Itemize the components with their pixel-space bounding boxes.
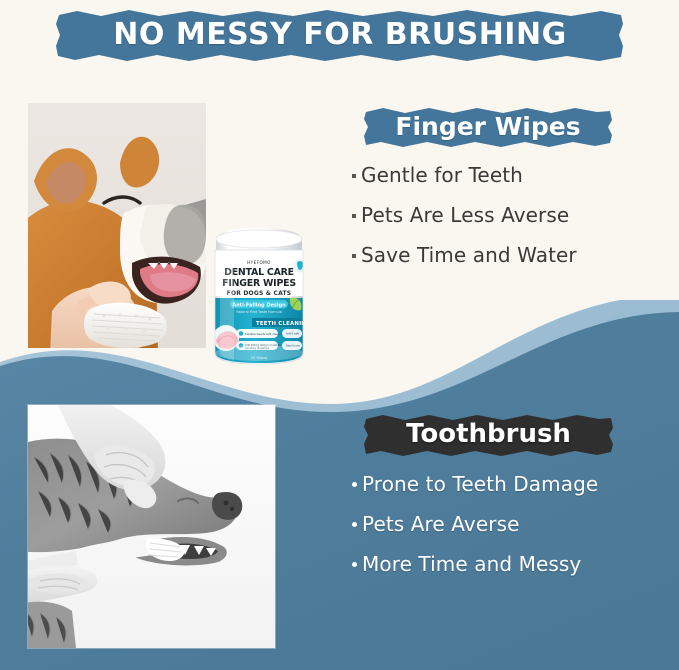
top-banner-title: NO MESSY FOR BRUSHING [55, 8, 625, 63]
finger-wipes-benefits-list: Gentle for Teeth Pets Are Less Averse Sa… [352, 163, 652, 283]
toothbrush-heading-banner: Toothbrush [363, 413, 614, 457]
finger-wipes-heading-banner: Finger Wipes [363, 106, 613, 148]
toothbrush-heading-text: Toothbrush [363, 413, 614, 457]
list-item-label: Pets Are Less Averse [361, 203, 569, 227]
svg-text:HYEFOMO: HYEFOMO [247, 260, 271, 265]
bullet-marker-icon [352, 482, 357, 487]
dog-toothbrush-photo [28, 405, 275, 648]
list-item: Prone to Teeth Damage [352, 472, 662, 496]
list-item-label: Prone to Teeth Damage [362, 472, 598, 496]
toothbrush-drawbacks-list: Prone to Teeth Damage Pets Are Averse Mo… [352, 472, 662, 592]
list-item: Save Time and Water [352, 243, 652, 267]
top-banner: NO MESSY FOR BRUSHING [55, 8, 625, 63]
bullet-marker-icon [352, 174, 356, 178]
bullet-marker-icon [352, 254, 356, 258]
list-item-label: More Time and Messy [362, 552, 581, 576]
bullet-marker-icon [352, 522, 357, 527]
svg-text:Soft & safe: Soft & safe [286, 333, 300, 336]
list-item: Pets Are Averse [352, 512, 662, 536]
list-item: Pets Are Less Averse [352, 203, 652, 227]
svg-text:Natural Mint Taste Formula: Natural Mint Taste Formula [236, 310, 282, 314]
svg-text:FOR DOGS & CATS: FOR DOGS & CATS [227, 290, 292, 297]
list-item-label: Gentle for Teeth [361, 163, 523, 187]
dog-finger-wipe-photo [28, 103, 206, 348]
list-item-label: Save Time and Water [361, 243, 577, 267]
list-item: More Time and Messy [352, 552, 662, 576]
svg-text:DENTAL CARE: DENTAL CARE [224, 267, 294, 278]
bullet-marker-icon [352, 214, 356, 218]
svg-text:Flexible beads soft clean teet: Flexible beads soft clean teeth [245, 332, 288, 336]
product-jar: HYEFOMO DENTAL CARE FINGER WIPES FOR DOG… [204, 226, 314, 366]
infographic-canvas: NO MESSY FOR BRUSHING [0, 0, 679, 670]
list-item: Gentle for Teeth [352, 163, 652, 187]
finger-wipes-heading-text: Finger Wipes [363, 106, 613, 148]
list-item-label: Pets Are Averse [362, 512, 520, 536]
svg-text:Anti-Falling Design: Anti-Falling Design [232, 302, 286, 308]
bullet-marker-icon [352, 562, 357, 567]
